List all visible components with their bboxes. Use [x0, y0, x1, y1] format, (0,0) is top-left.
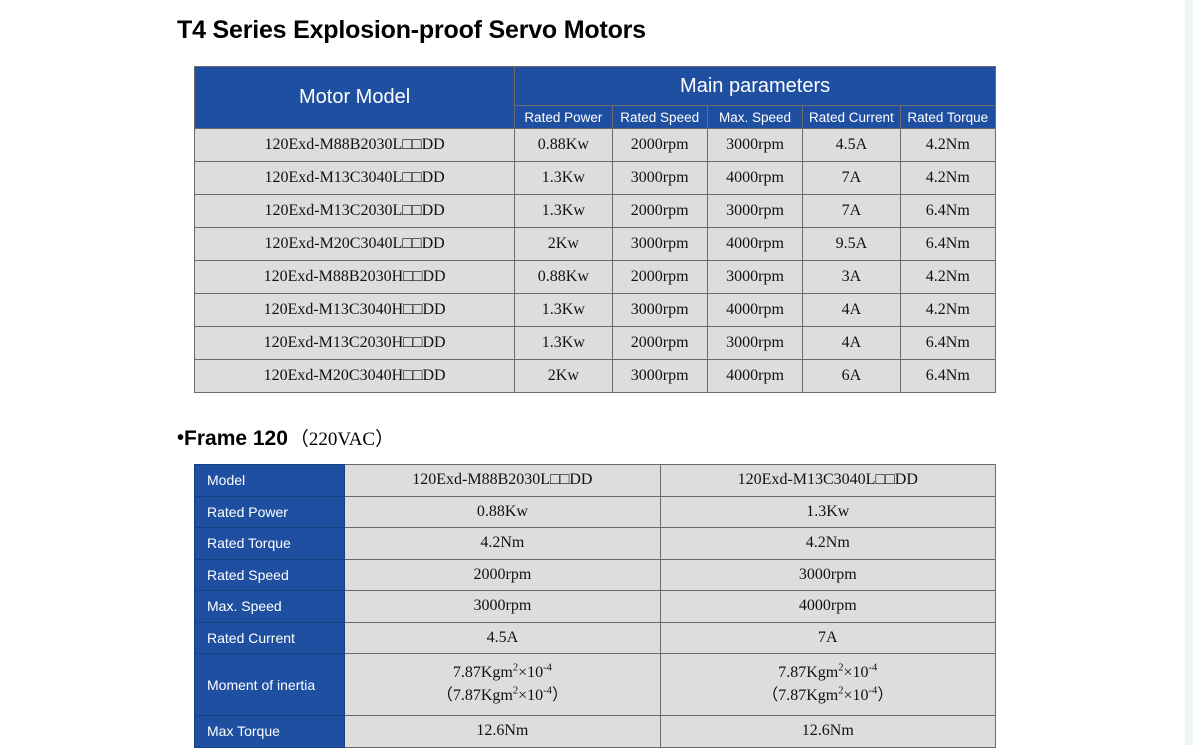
cell-max-torque-b: 12.6Nm — [660, 716, 995, 748]
cell-rated-current: 6A — [803, 360, 900, 393]
row-label-rated-speed: Rated Speed — [195, 559, 345, 591]
inertia-times-ten: ×10 — [518, 664, 543, 681]
cell-rated-torque: 4.2Nm — [900, 294, 995, 327]
inertia-paren-open: （ — [437, 687, 453, 704]
cell-max-speed: 4000rpm — [707, 360, 802, 393]
section-heading-label: Frame 120 — [184, 427, 288, 450]
table-row: 120Exd-M13C2030H□□DD 1.3Kw 2000rpm 3000r… — [195, 327, 996, 360]
column-header-motor-model: Motor Model — [195, 67, 515, 129]
cell-max-speed: 3000rpm — [707, 195, 802, 228]
row-label-max-speed: Max. Speed — [195, 591, 345, 623]
row-label-rated-torque: Rated Torque — [195, 528, 345, 560]
table-row: Max Torque 12.6Nm 12.6Nm — [195, 716, 996, 748]
column-header-rated-torque: Rated Torque — [900, 106, 995, 129]
cell-rated-power: 0.88Kw — [515, 129, 612, 162]
inertia-paren-close: ） — [877, 687, 893, 704]
table-row: 120Exd-M13C3040L□□DD 1.3Kw 3000rpm 4000r… — [195, 162, 996, 195]
column-header-rated-power: Rated Power — [515, 106, 612, 129]
cell-rated-power: 1.3Kw — [515, 294, 612, 327]
table-row: Model 120Exd-M88B2030L□□DD 120Exd-M13C30… — [195, 465, 996, 497]
inertia-line-2: （7.87Kgm2×10-4） — [345, 685, 659, 707]
inertia-times-ten: ×10 — [844, 687, 869, 704]
cell-rated-current: 4A — [803, 327, 900, 360]
inertia-line-1: 7.87Kgm2×10-4 — [345, 662, 659, 684]
column-header-rated-current: Rated Current — [803, 106, 900, 129]
inertia-exponent-minus4: -4 — [543, 685, 552, 696]
cell-rated-torque: 4.2Nm — [900, 129, 995, 162]
inertia-exponent-minus4: -4 — [869, 663, 878, 674]
cell-rated-speed: 3000rpm — [612, 294, 707, 327]
cell-rated-power: 1.3Kw — [515, 162, 612, 195]
cell-rated-power-a: 0.88Kw — [345, 496, 660, 528]
section-heading-frame-120: •Frame 120（220VAC） — [177, 424, 394, 451]
table-row: Rated Speed 2000rpm 3000rpm — [195, 559, 996, 591]
cell-max-torque-a: 12.6Nm — [345, 716, 660, 748]
cell-rated-current-a: 4.5A — [345, 622, 660, 654]
cell-rated-current: 9.5A — [803, 228, 900, 261]
column-header-main-parameters: Main parameters — [515, 67, 996, 106]
cell-model: 120Exd-M13C3040H□□DD — [195, 294, 515, 327]
inertia-base: 7.87Kgm — [778, 687, 838, 704]
row-label-moment-of-inertia: Moment of inertia — [195, 654, 345, 716]
cell-rated-speed: 3000rpm — [612, 228, 707, 261]
inertia-exponent-minus4: -4 — [543, 663, 552, 674]
table-row: 120Exd-M13C3040H□□DD 1.3Kw 3000rpm 4000r… — [195, 294, 996, 327]
inertia-base: 7.87Kgm — [778, 664, 838, 681]
inertia-line-2: （7.87Kgm2×10-4） — [661, 685, 995, 707]
row-label-max-torque: Max Torque — [195, 716, 345, 748]
cell-rated-power: 0.88Kw — [515, 261, 612, 294]
table-row: 120Exd-M20C3040L□□DD 2Kw 3000rpm 4000rpm… — [195, 228, 996, 261]
cell-model: 120Exd-M13C3040L□□DD — [195, 162, 515, 195]
cell-rated-current: 4A — [803, 294, 900, 327]
table-header-row-1: Motor Model Main parameters — [195, 67, 996, 106]
inertia-value-a: 7.87Kgm2×10-4 （7.87Kgm2×10-4） — [345, 662, 659, 706]
row-label-rated-power: Rated Power — [195, 496, 345, 528]
cell-model: 120Exd-M13C2030H□□DD — [195, 327, 515, 360]
cell-max-speed: 4000rpm — [707, 228, 802, 261]
page-title: T4 Series Explosion-proof Servo Motors — [177, 16, 646, 45]
cell-rated-current-b: 7A — [660, 622, 995, 654]
bullet-icon: • — [177, 427, 184, 449]
cell-rated-speed: 2000rpm — [612, 195, 707, 228]
cell-rated-speed: 2000rpm — [612, 261, 707, 294]
cell-max-speed: 3000rpm — [707, 129, 802, 162]
cell-rated-power: 2Kw — [515, 360, 612, 393]
inertia-paren-close: ） — [552, 687, 568, 704]
cell-moment-of-inertia-b: 7.87Kgm2×10-4 （7.87Kgm2×10-4） — [660, 654, 995, 716]
table-row: 120Exd-M13C2030L□□DD 1.3Kw 2000rpm 3000r… — [195, 195, 996, 228]
cell-rated-current: 7A — [803, 162, 900, 195]
cell-model: 120Exd-M88B2030H□□DD — [195, 261, 515, 294]
cell-rated-current: 7A — [803, 195, 900, 228]
table-row: Rated Torque 4.2Nm 4.2Nm — [195, 528, 996, 560]
cell-rated-torque: 6.4Nm — [900, 327, 995, 360]
cell-rated-torque: 6.4Nm — [900, 195, 995, 228]
cell-max-speed-b: 4000rpm — [660, 591, 995, 623]
inertia-value-b: 7.87Kgm2×10-4 （7.87Kgm2×10-4） — [661, 662, 995, 706]
cell-rated-current: 3A — [803, 261, 900, 294]
cell-max-speed: 4000rpm — [707, 294, 802, 327]
frame120-spec-table: Model 120Exd-M88B2030L□□DD 120Exd-M13C30… — [194, 464, 996, 748]
table-row: 120Exd-M88B2030L□□DD 0.88Kw 2000rpm 3000… — [195, 129, 996, 162]
cell-rated-power: 2Kw — [515, 228, 612, 261]
cell-rated-speed: 3000rpm — [612, 162, 707, 195]
cell-rated-power-b: 1.3Kw — [660, 496, 995, 528]
section-heading-voltage: （220VAC） — [290, 429, 394, 450]
cell-model: 120Exd-M20C3040H□□DD — [195, 360, 515, 393]
cell-rated-torque-b: 4.2Nm — [660, 528, 995, 560]
inertia-line-1: 7.87Kgm2×10-4 — [661, 662, 995, 684]
cell-rated-torque: 4.2Nm — [900, 162, 995, 195]
cell-rated-power: 1.3Kw — [515, 327, 612, 360]
inertia-paren-open: （ — [762, 687, 778, 704]
cell-rated-current: 4.5A — [803, 129, 900, 162]
row-label-model: Model — [195, 465, 345, 497]
table-row: 120Exd-M20C3040H□□DD 2Kw 3000rpm 4000rpm… — [195, 360, 996, 393]
table-row: Moment of inertia 7.87Kgm2×10-4 （7.87Kgm… — [195, 654, 996, 716]
motor-models-table-head: Motor Model Main parameters Rated Power … — [195, 67, 996, 129]
cell-rated-speed: 2000rpm — [612, 129, 707, 162]
cell-rated-power: 1.3Kw — [515, 195, 612, 228]
cell-model-b: 120Exd-M13C3040L□□DD — [660, 465, 995, 497]
table-row: Max. Speed 3000rpm 4000rpm — [195, 591, 996, 623]
cell-model: 120Exd-M13C2030L□□DD — [195, 195, 515, 228]
cell-rated-speed-a: 2000rpm — [345, 559, 660, 591]
cell-rated-speed-b: 3000rpm — [660, 559, 995, 591]
table-row: 120Exd-M88B2030H□□DD 0.88Kw 2000rpm 3000… — [195, 261, 996, 294]
motor-models-table: Motor Model Main parameters Rated Power … — [194, 66, 996, 393]
frame120-table-body: Model 120Exd-M88B2030L□□DD 120Exd-M13C30… — [195, 465, 996, 748]
cell-max-speed: 3000rpm — [707, 261, 802, 294]
row-label-rated-current: Rated Current — [195, 622, 345, 654]
inertia-base: 7.87Kgm — [453, 687, 513, 704]
cell-max-speed-a: 3000rpm — [345, 591, 660, 623]
cell-moment-of-inertia-a: 7.87Kgm2×10-4 （7.87Kgm2×10-4） — [345, 654, 660, 716]
cell-model: 120Exd-M88B2030L□□DD — [195, 129, 515, 162]
column-header-max-speed: Max. Speed — [707, 106, 802, 129]
table-row: Rated Current 4.5A 7A — [195, 622, 996, 654]
table-row: Rated Power 0.88Kw 1.3Kw — [195, 496, 996, 528]
page-right-edge — [1185, 0, 1193, 745]
cell-model-a: 120Exd-M88B2030L□□DD — [345, 465, 660, 497]
inertia-times-ten: ×10 — [844, 664, 869, 681]
inertia-base: 7.87Kgm — [453, 664, 513, 681]
cell-rated-torque-a: 4.2Nm — [345, 528, 660, 560]
cell-rated-speed: 3000rpm — [612, 360, 707, 393]
inertia-times-ten: ×10 — [518, 687, 543, 704]
cell-rated-speed: 2000rpm — [612, 327, 707, 360]
cell-max-speed: 3000rpm — [707, 327, 802, 360]
cell-rated-torque: 4.2Nm — [900, 261, 995, 294]
motor-models-table-body: 120Exd-M88B2030L□□DD 0.88Kw 2000rpm 3000… — [195, 129, 996, 393]
cell-model: 120Exd-M20C3040L□□DD — [195, 228, 515, 261]
document-page: T4 Series Explosion-proof Servo Motors M… — [0, 0, 1193, 745]
cell-rated-torque: 6.4Nm — [900, 360, 995, 393]
column-header-rated-speed: Rated Speed — [612, 106, 707, 129]
cell-max-speed: 4000rpm — [707, 162, 802, 195]
cell-rated-torque: 6.4Nm — [900, 228, 995, 261]
